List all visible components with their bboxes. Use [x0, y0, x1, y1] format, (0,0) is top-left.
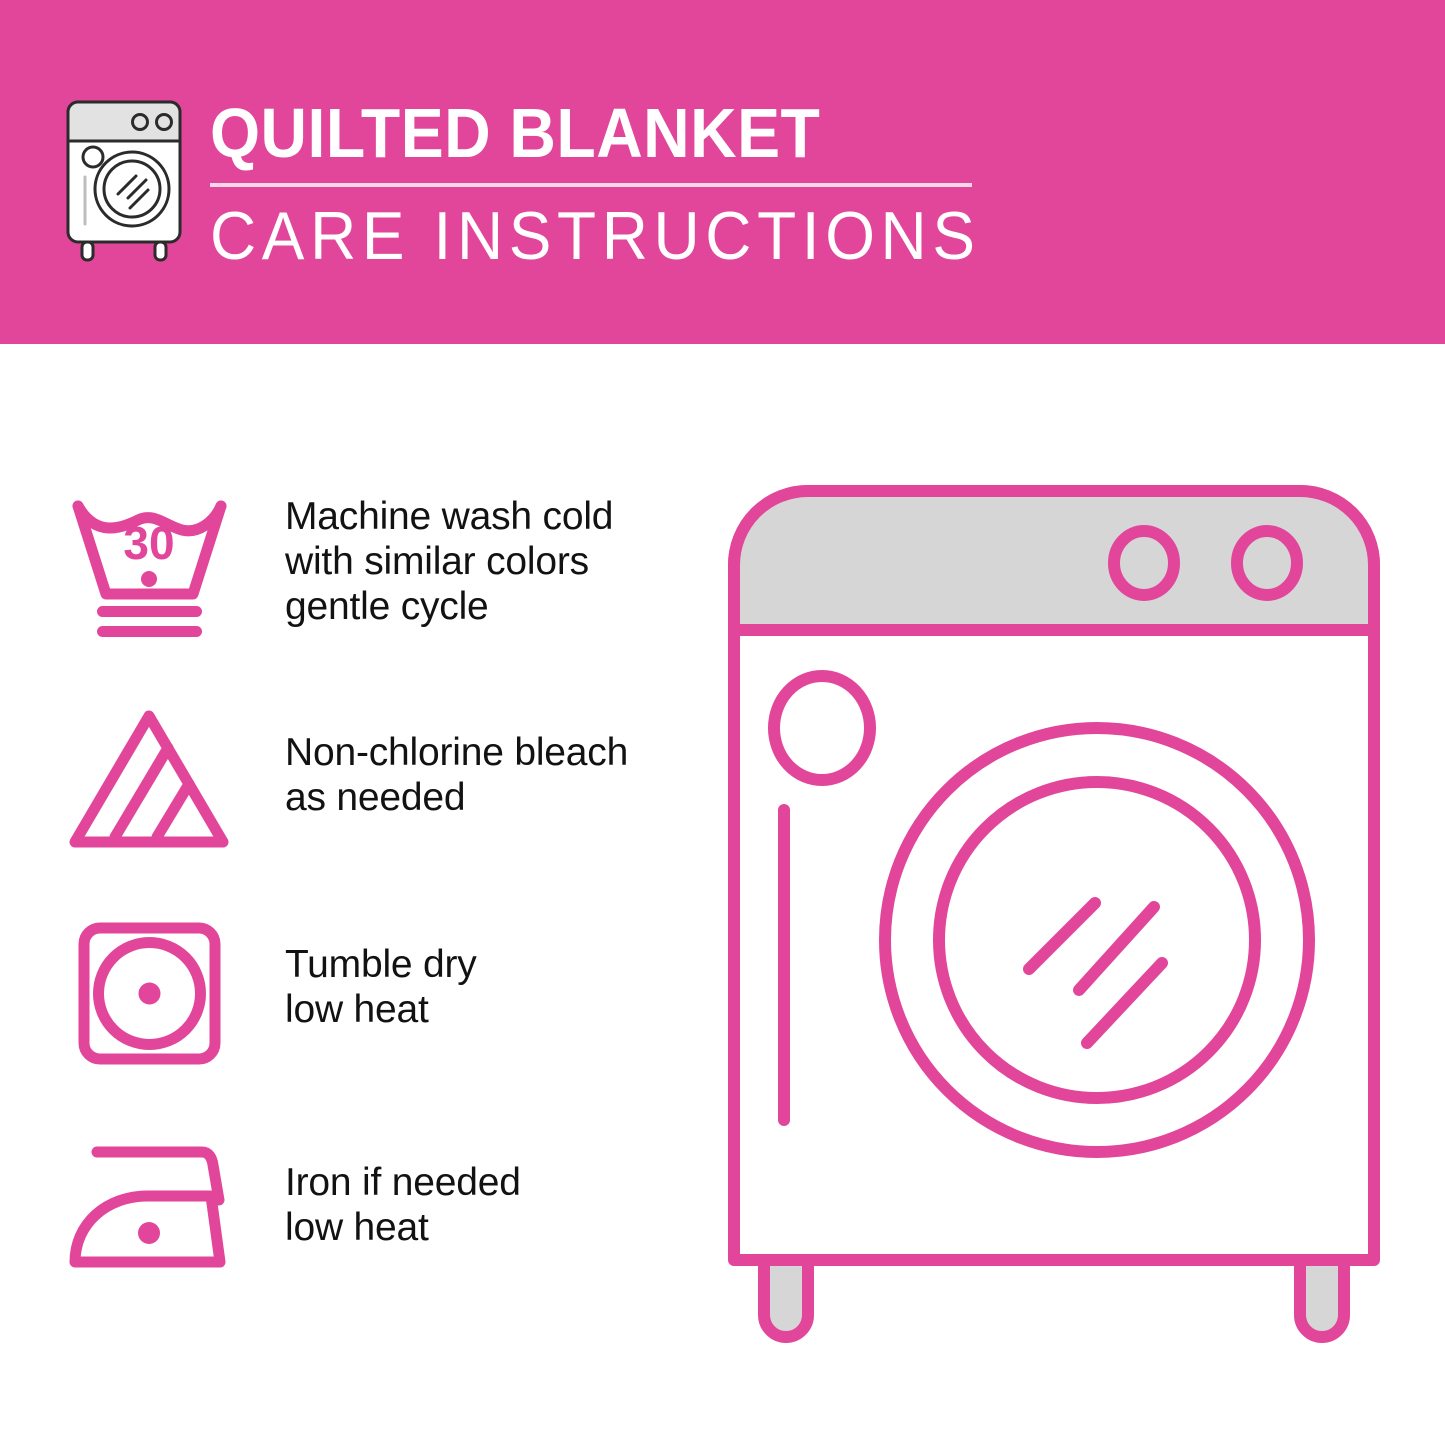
care-instruction-list: 30 Machine wash cold with similar colors…: [62, 478, 702, 1334]
list-item: Tumble dry low heat: [62, 906, 702, 1120]
washer-dial: [774, 676, 870, 780]
washer-knob-right: [1237, 531, 1297, 595]
page-subtitle: CARE INSTRUCTIONS: [210, 200, 981, 272]
list-item: Iron if needed low heat: [62, 1120, 702, 1334]
list-item: Non-chlorine bleach as needed: [62, 692, 702, 906]
page-title: QUILTED BLANKET: [210, 96, 964, 170]
header-content: QUILTED BLANKET CARE INSTRUCTIONS: [62, 88, 1030, 272]
list-item-label: Tumble dry low heat: [285, 906, 477, 1032]
washer-knob-left: [1114, 531, 1174, 595]
list-item-label: Iron if needed low heat: [285, 1120, 521, 1250]
iron-low-icon: [62, 1120, 237, 1295]
list-item-label: Machine wash cold with similar colors ge…: [285, 478, 613, 629]
list-item: 30 Machine wash cold with similar colors…: [62, 478, 702, 692]
front-load-washing-machine-illustration: [712, 470, 1412, 1370]
care-instructions-page: QUILTED BLANKET CARE INSTRUCTIONS 30: [0, 0, 1445, 1445]
wash-tub-30-icon: 30: [62, 478, 237, 653]
tumble-dry-low-icon: [62, 906, 237, 1081]
header-banner: QUILTED BLANKET CARE INSTRUCTIONS: [0, 0, 1445, 344]
washer-door-inner-ring: [939, 782, 1255, 1098]
list-item-label: Non-chlorine bleach as needed: [285, 692, 628, 820]
bleach-triangle-icon: [62, 692, 237, 867]
header-divider: [210, 183, 972, 187]
header-title-group: QUILTED BLANKET CARE INSTRUCTIONS: [210, 88, 1030, 272]
wash-temperature-label: 30: [123, 517, 174, 569]
washing-machine-icon: [62, 94, 186, 262]
